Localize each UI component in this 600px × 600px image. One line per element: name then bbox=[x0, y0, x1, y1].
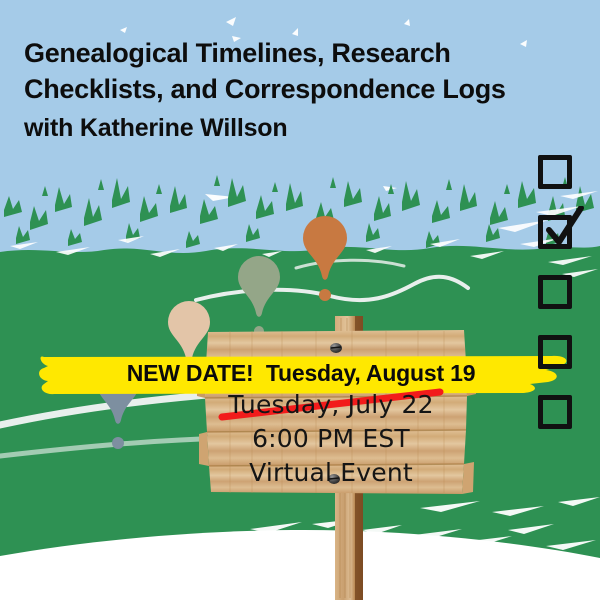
sign-line-time: 6:00 PM EST bbox=[200, 422, 462, 456]
checkbox-1[interactable] bbox=[538, 155, 572, 189]
sign-details: Tuesday, July 22 6:00 PM EST Virtual Eve… bbox=[200, 388, 462, 490]
presenter-name: with Katherine Willson bbox=[24, 112, 564, 145]
poster-canvas: Genealogical Timelines, Research Checkli… bbox=[0, 0, 600, 600]
new-date-banner: NEW DATE! Tuesday, August 19 bbox=[34, 352, 568, 394]
page-title: Genealogical Timelines, Research Checkli… bbox=[24, 36, 564, 107]
checkbox-5[interactable] bbox=[538, 395, 572, 429]
new-date-banner-text: NEW DATE! Tuesday, August 19 bbox=[34, 352, 568, 394]
headline-block: Genealogical Timelines, Research Checkli… bbox=[24, 36, 564, 145]
checkbox-3[interactable] bbox=[538, 275, 572, 309]
checkbox-4[interactable] bbox=[538, 335, 572, 369]
sign-line-format: Virtual Event bbox=[200, 456, 462, 490]
checklist-column bbox=[538, 155, 572, 429]
checkbox-2[interactable] bbox=[538, 215, 572, 249]
